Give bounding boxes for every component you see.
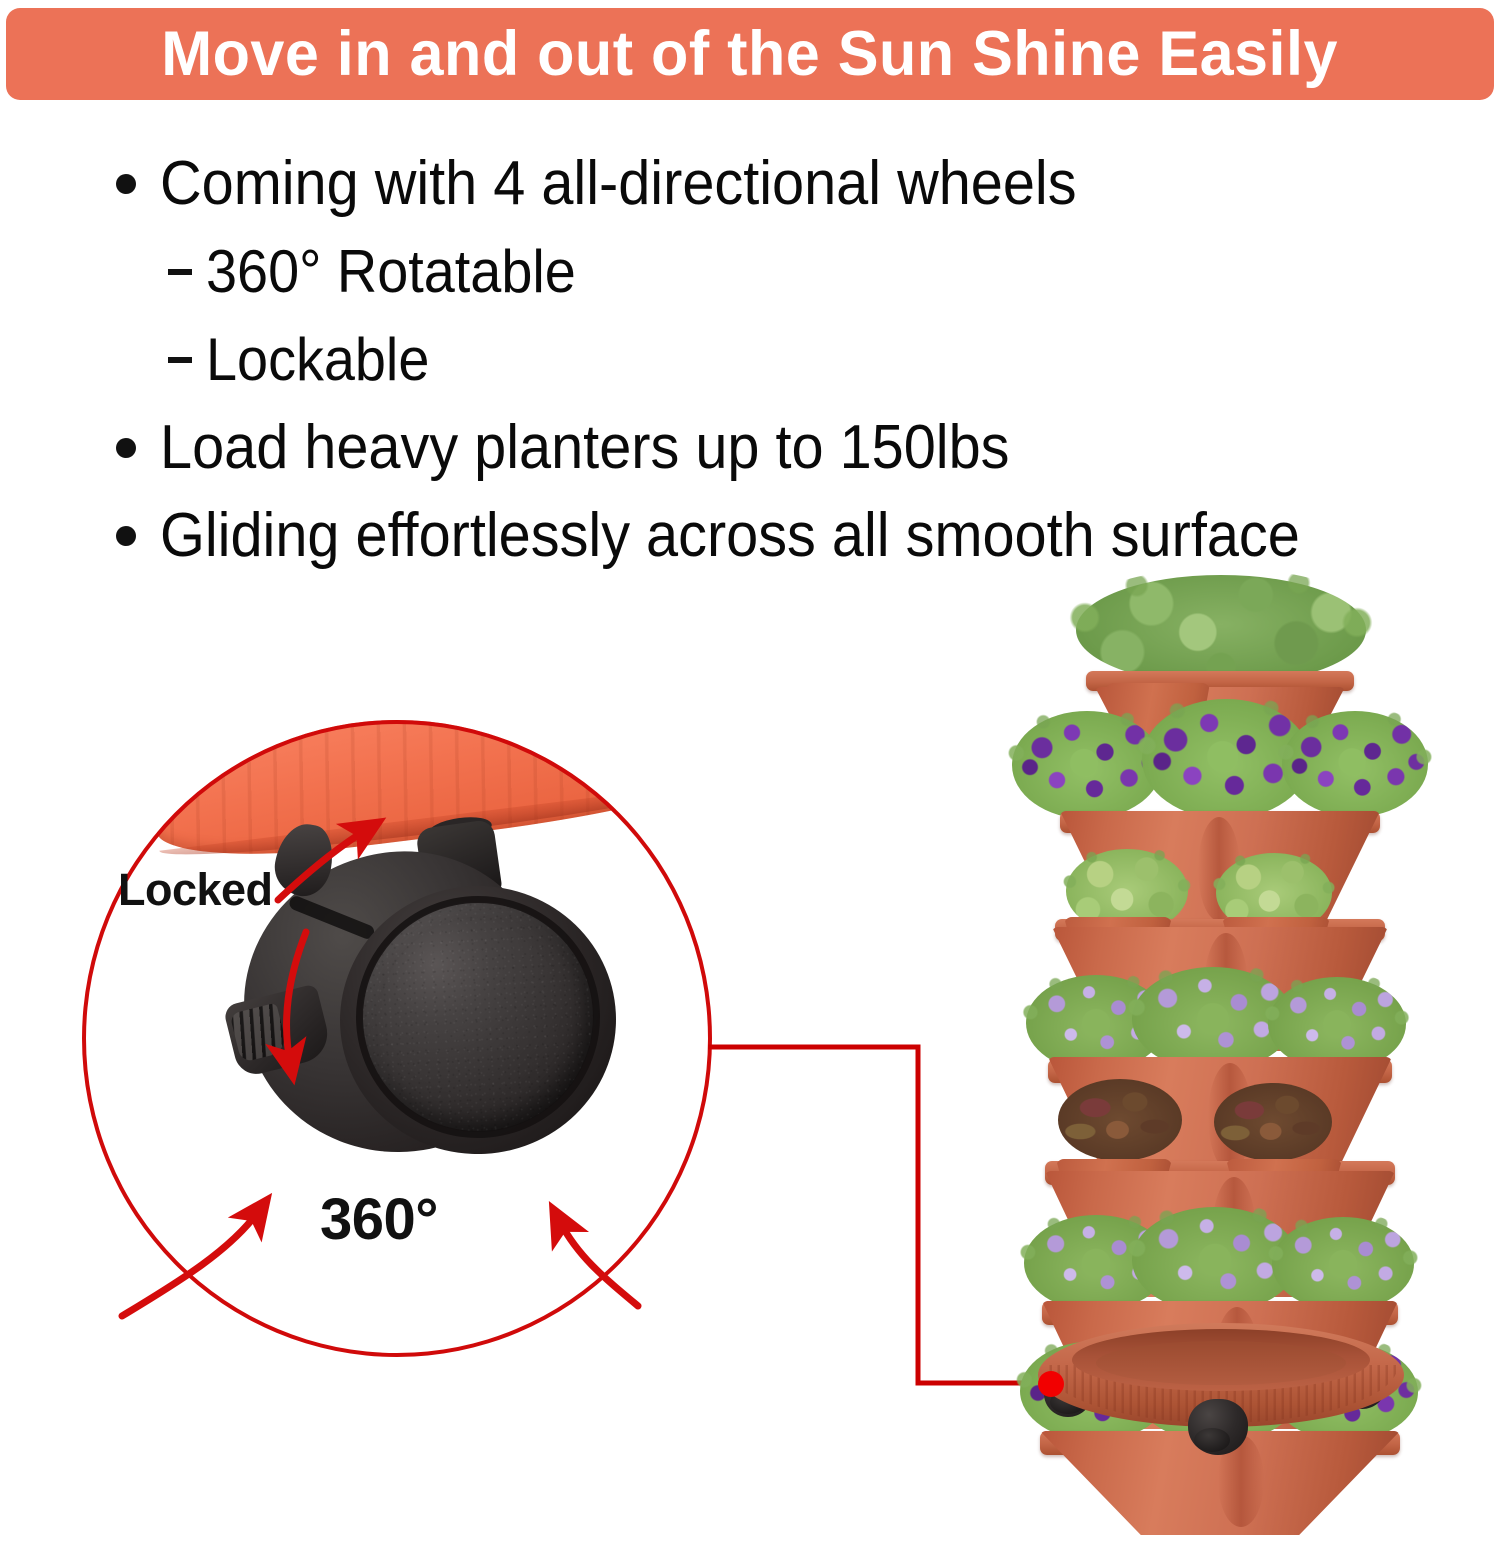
feature-text: Gliding effortlessly across all smooth s… [160, 505, 1300, 567]
planter-tower [1010, 575, 1430, 1461]
feature-text: Lockable [206, 330, 429, 390]
caster-callout: Locked 360° [82, 720, 712, 1357]
plant-lilac-lobelia [1272, 1217, 1414, 1311]
locked-label: Locked [118, 864, 273, 916]
bullet-dot-icon [116, 174, 136, 194]
page-title: Move in and out of the Sun Shine Easily [162, 23, 1339, 86]
list-item: 360° Rotatable [0, 228, 1500, 316]
callout-circle-outline [82, 720, 712, 1357]
list-item: Load heavy planters up to 150lbs [0, 404, 1500, 492]
connector-polyline [708, 1047, 1048, 1383]
header-banner: Move in and out of the Sun Shine Easily [6, 8, 1494, 100]
bullet-dot-icon [116, 526, 136, 546]
rotation-label: 360° [320, 1186, 438, 1253]
feature-text: Load heavy planters up to 150lbs [160, 417, 1010, 479]
plant-burgundy-foliage [1214, 1083, 1332, 1161]
plant-purple-flowers [1282, 711, 1428, 817]
caster-wheel-front [1188, 1399, 1248, 1455]
list-item: Lockable [0, 316, 1500, 404]
connector-marker-dot [1038, 1371, 1064, 1397]
bullet-dot-icon [116, 438, 136, 458]
dash-icon [168, 269, 192, 275]
plant-burgundy-foliage [1058, 1079, 1182, 1161]
plant-green-herb [1076, 575, 1366, 685]
foliage-sprigs [1273, 705, 1437, 824]
dash-icon [168, 357, 192, 363]
list-item: Coming with 4 all-directional wheels [0, 140, 1500, 228]
rolling-base-caddy [1038, 1317, 1404, 1437]
caddy-inner-floor [1096, 1341, 1346, 1385]
feature-list: Coming with 4 all-directional wheels 360… [0, 140, 1500, 580]
feature-text: 360° Rotatable [206, 242, 576, 302]
feature-text: Coming with 4 all-directional wheels [160, 153, 1077, 215]
list-item: Gliding effortlessly across all smooth s… [0, 492, 1500, 580]
